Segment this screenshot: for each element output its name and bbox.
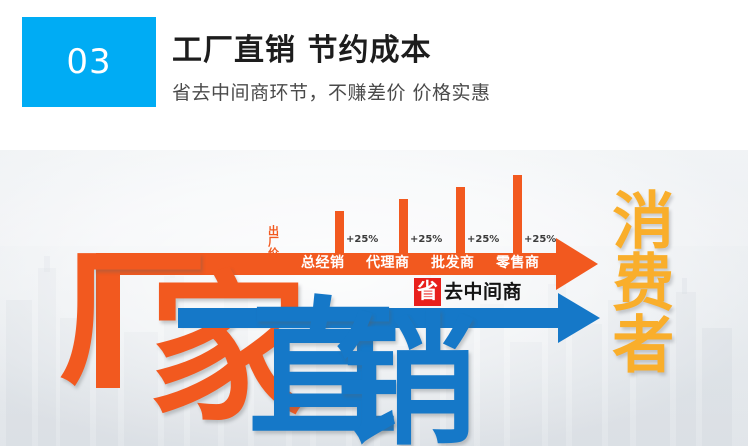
big-char-sale: 销 xyxy=(335,312,477,446)
supply-chain-infographic: +25% +25% +25% +25% 总经销 代理商 批发商 零售商 出厂价 … xyxy=(0,150,748,446)
header-text-block: 工厂直销 节约成本 省去中间商环节，不赚差价 价格实惠 xyxy=(172,32,732,105)
save-middleman-badge: 省 去中间商 xyxy=(414,278,522,306)
section-number-label: 03 xyxy=(66,45,111,79)
consumer-label: 消费者 xyxy=(606,188,669,374)
section-header: 03 工厂直销 节约成本 省去中间商环节，不赚差价 价格实惠 xyxy=(0,0,748,150)
page-subtitle: 省去中间商环节，不赚差价 价格实惠 xyxy=(172,81,732,106)
save-badge-highlight: 省 xyxy=(414,278,441,306)
blue-arrow-head xyxy=(558,293,600,343)
promo-page: 03 工厂直销 节约成本 省去中间商环节，不赚差价 价格实惠 xyxy=(0,0,748,446)
page-title: 工厂直销 节约成本 xyxy=(172,32,732,70)
save-badge-text: 去中间商 xyxy=(444,283,522,302)
section-number-badge: 03 xyxy=(22,17,156,107)
